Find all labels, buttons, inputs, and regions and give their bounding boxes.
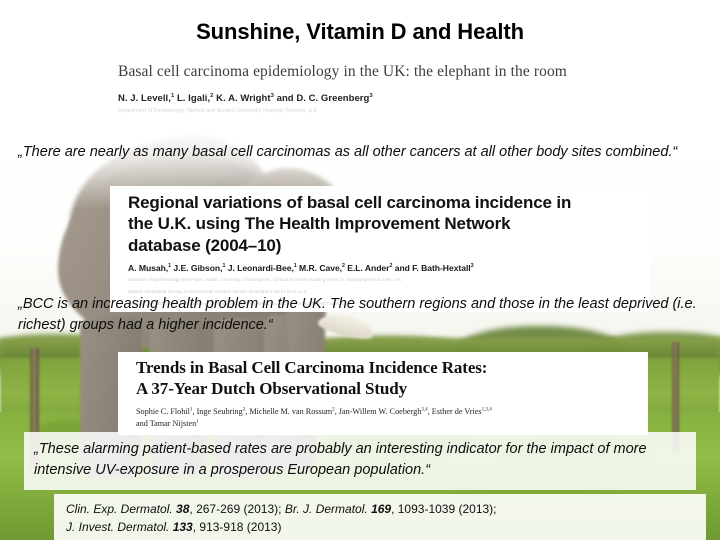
article-affiliation: Department of Dermatology, Norfolk and N… xyxy=(118,108,620,114)
article-authors: N. J. Levell,1 L. Igali,2 K. A. Wright3 … xyxy=(118,93,620,104)
page-title: Sunshine, Vitamin D and Health xyxy=(0,19,720,45)
citation-line-2: J. Invest. Dermatol. 133, 913-918 (2013) xyxy=(66,518,696,536)
slide-canvas: Sunshine, Vitamin D and Health Basal cel… xyxy=(0,0,720,540)
article-title: Regional variations of basal cell carcin… xyxy=(128,192,578,256)
citation-journal-1: Clin. Exp. Dermatol. xyxy=(66,502,176,516)
article-title: Basal cell carcinoma epidemiology in the… xyxy=(118,62,588,82)
article-title-line-1: Trends in Basal Cell Carcinoma Incidence… xyxy=(136,358,556,379)
citation-footer: Clin. Exp. Dermatol. 38, 267-269 (2013);… xyxy=(54,494,706,540)
article-clipping-trends-dutch-study: Trends in Basal Cell Carcinoma Incidence… xyxy=(118,352,648,435)
article-affiliation-1: 1Division of Epidemiology and Public Hea… xyxy=(128,276,650,285)
citation-volume-3: 133 xyxy=(173,520,193,534)
article-authors: Sophie C. Flohil1, Inge Seubring2, Miche… xyxy=(136,406,566,428)
citation-pages-2: , 1093-1039 (2013); xyxy=(391,502,496,516)
quote-basal-cell-carcinomas: „There are nearly as many basal cell car… xyxy=(18,142,706,163)
citation-volume-1: 38 xyxy=(176,502,189,516)
citation-pages-3: , 913-918 (2013) xyxy=(193,520,282,534)
quote-alarming-patient-based-rates: „These alarming patient-based rates are … xyxy=(24,432,696,490)
article-clipping-basal-cell-carcinoma-epidemiology: Basal cell carcinoma epidemiology in the… xyxy=(100,58,620,120)
citation-pages-1: , 267-269 (2013); xyxy=(189,502,284,516)
article-title-line-2: A 37-Year Dutch Observational Study xyxy=(136,379,556,400)
citation-journal-3: J. Invest. Dermatol. xyxy=(66,520,173,534)
citation-line-1: Clin. Exp. Dermatol. 38, 267-269 (2013);… xyxy=(66,500,696,518)
citation-journal-2: Br. J. Dermatol. xyxy=(285,502,371,516)
article-authors: A. Musah,1 J.E. Gibson,1 J. Leonardi-Bee… xyxy=(128,263,650,273)
citation-volume-2: 169 xyxy=(371,502,391,516)
quote-bcc-increasing-problem: „BCC is an increasing health problem in … xyxy=(18,294,706,335)
